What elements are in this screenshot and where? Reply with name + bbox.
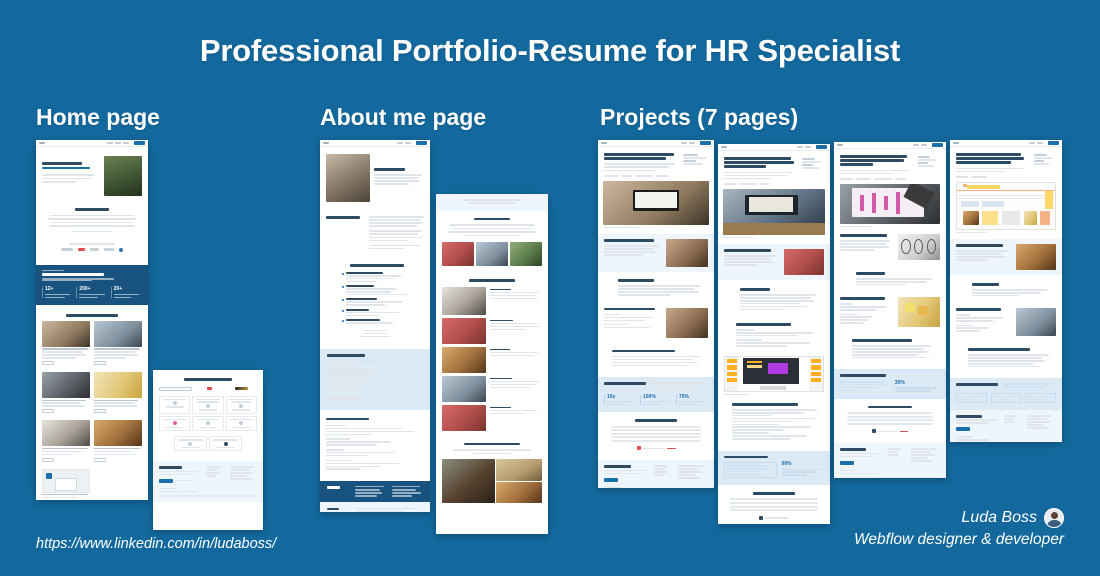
project-card-link[interactable]	[94, 409, 106, 413]
results-heading	[604, 382, 646, 385]
project-section-2	[598, 272, 714, 300]
volunteer-photo	[442, 242, 474, 266]
project-section-1	[950, 239, 1062, 275]
mockup-project-3[interactable]: 30%	[834, 142, 946, 478]
slide-canvas: Professional Portfolio-Resume for HR Spe…	[0, 0, 1100, 576]
project-section-3	[834, 289, 946, 331]
mockup-navbar	[718, 144, 830, 151]
project-section-4	[950, 340, 1062, 371]
metric-value: 100%	[643, 395, 672, 400]
project-card[interactable]	[42, 321, 90, 365]
reference-avatar	[239, 421, 243, 425]
recommendations-section	[598, 412, 714, 454]
bio-section	[320, 206, 430, 253]
mockup-about-second[interactable]	[436, 194, 548, 534]
welcome-title	[75, 208, 109, 211]
hero-portrait-photo	[104, 156, 142, 196]
reference-card[interactable]	[226, 416, 257, 431]
section-photo	[1016, 308, 1056, 336]
hero-text-line	[42, 181, 76, 183]
project-section-1	[718, 244, 830, 280]
site-logo-icon	[323, 142, 329, 144]
project-title-line	[724, 157, 791, 160]
experience-title	[350, 264, 405, 267]
section-heading	[736, 323, 791, 326]
volunteering-section	[436, 211, 548, 271]
project-title-line	[840, 155, 907, 158]
contact-title	[956, 415, 982, 418]
section-heading	[618, 279, 654, 282]
client-logo-icon	[61, 248, 73, 251]
tools-section	[320, 502, 430, 512]
timeline-dot-icon	[342, 286, 344, 288]
recommendations-title	[868, 406, 912, 409]
section-heading	[604, 308, 655, 311]
projects-section	[36, 305, 148, 500]
nav-cta-button	[816, 145, 827, 149]
reference-avatar	[188, 442, 192, 446]
project-results	[950, 378, 1062, 410]
reference-avatar	[224, 442, 228, 446]
source-logo-icon	[759, 516, 763, 520]
fact-photo	[442, 376, 486, 402]
project-card-row	[42, 372, 142, 413]
project-hero-photo	[603, 181, 709, 225]
metric-item: 90%	[782, 462, 824, 478]
author-role: Webflow designer & developer	[854, 531, 1064, 549]
education-title	[327, 354, 365, 357]
reference-card[interactable]	[174, 436, 207, 451]
welcome-section	[36, 200, 148, 236]
recommendations-title	[635, 419, 677, 422]
project-title-line	[604, 157, 666, 160]
project-results: 10x 100% 75%	[598, 377, 714, 412]
recommendations-title	[753, 492, 795, 495]
project-card-link[interactable]	[42, 409, 54, 413]
fact-row	[442, 376, 542, 402]
reference-card[interactable]	[226, 396, 257, 414]
nav-item	[397, 142, 403, 144]
portfolio-url[interactable]: https://www.linkedin.com/in/ludaboss/	[36, 536, 276, 552]
nav-item	[405, 142, 411, 144]
plan-screenshot	[956, 182, 1056, 230]
reference-filter[interactable]	[159, 387, 192, 391]
welcome-text-line	[48, 218, 136, 220]
project-title-line	[956, 157, 1024, 160]
fact-row	[442, 405, 542, 431]
nav-cta-button	[416, 141, 427, 145]
certification-title	[326, 418, 369, 421]
section-heading	[840, 297, 885, 300]
contact-title	[604, 465, 631, 468]
site-logo-icon	[721, 146, 727, 148]
reference-avatar	[206, 404, 210, 408]
section-label-about: About me page	[320, 104, 486, 131]
client-logo-icon	[119, 248, 123, 252]
volunteering-photos	[442, 242, 542, 266]
mockup-project-2[interactable]: 90%	[718, 144, 830, 524]
section-heading	[956, 244, 1003, 247]
outside-title	[464, 443, 520, 446]
client-logo-icon	[90, 248, 99, 251]
metric-value: 10x	[607, 395, 636, 400]
stats-kicker	[42, 270, 64, 271]
user-avatar-icon	[1044, 508, 1064, 528]
project-card[interactable]	[42, 372, 90, 413]
project-card-link[interactable]	[94, 361, 106, 365]
bio-title	[326, 216, 360, 219]
fact-row	[442, 287, 542, 315]
project-header	[718, 151, 830, 183]
mockup-home-main[interactable]: 12+ 200+ 20+	[36, 140, 148, 500]
tools-title	[327, 508, 339, 511]
whiteboard-screenshot	[724, 356, 824, 392]
contact-title	[159, 466, 182, 469]
section-heading	[604, 239, 654, 242]
skills-title	[327, 486, 340, 489]
section-label-home: Home page	[36, 104, 160, 131]
logo-row	[42, 248, 142, 252]
collage-photo	[496, 459, 542, 480]
contact-section	[598, 460, 714, 488]
outside-collage	[442, 459, 542, 503]
contact-section	[834, 443, 946, 478]
project-header	[598, 147, 714, 175]
reference-avatar	[239, 404, 243, 408]
welcome-text-line	[50, 215, 134, 217]
nav-item	[689, 142, 695, 144]
references-grid-secondary	[174, 436, 243, 451]
references-title	[184, 378, 231, 381]
client-logo-icon	[104, 248, 114, 251]
mockup-project-4[interactable]	[950, 140, 1062, 442]
outside-work-section	[436, 435, 548, 508]
facts-section	[436, 270, 548, 435]
nav-cta-button	[700, 141, 711, 145]
nav-item	[913, 144, 919, 146]
timeline-dot-icon	[342, 320, 344, 322]
nav-cta-button	[134, 141, 145, 145]
experience-item	[342, 285, 424, 295]
results-cards	[956, 393, 1056, 403]
metrics-row: 10x 100% 75%	[604, 395, 708, 406]
metric-item: 10x	[604, 395, 636, 406]
skills-section	[320, 481, 430, 502]
results-heading	[724, 456, 768, 459]
welcome-text-line	[52, 222, 132, 224]
project-title-line	[724, 161, 794, 164]
site-logo-icon	[837, 144, 843, 146]
contact-section	[950, 410, 1062, 442]
reference-card[interactable]	[209, 436, 242, 451]
volunteering-title	[474, 218, 510, 221]
stats-subtext	[42, 280, 92, 282]
project-card[interactable]	[42, 420, 90, 461]
reference-logo-icon	[235, 387, 248, 390]
collage-photo	[496, 482, 542, 503]
facts-title	[469, 279, 515, 282]
section-heading	[740, 288, 770, 291]
stats-row: 12+ 200+ 20+	[42, 287, 142, 298]
references-section	[153, 370, 263, 455]
contact-send-button[interactable]	[840, 461, 854, 465]
contact-section	[153, 461, 263, 501]
project-section-2	[950, 275, 1062, 300]
education-section	[320, 349, 430, 410]
experience-section	[320, 253, 430, 341]
recommendations-section	[834, 399, 946, 438]
contact-title	[840, 448, 866, 451]
nav-item	[921, 144, 927, 146]
section-heading	[732, 403, 798, 406]
section-heading	[968, 348, 1030, 351]
reference-card[interactable]	[192, 416, 223, 431]
fact-row	[442, 318, 542, 344]
project-card[interactable]	[94, 321, 142, 365]
project-title-line	[604, 153, 674, 156]
experience-item	[342, 319, 424, 324]
nav-item	[797, 146, 803, 148]
project-section-3	[950, 300, 1062, 340]
project-title-line	[840, 159, 904, 162]
project-thumbnail	[94, 321, 142, 347]
section-heading	[840, 234, 887, 237]
stat-value: 20+	[114, 287, 142, 292]
about-second-intro	[436, 194, 548, 211]
section-photo	[898, 297, 940, 327]
fact-photo	[442, 347, 486, 373]
results-heading	[956, 383, 998, 386]
mockup-navbar	[834, 142, 946, 149]
about-heading	[374, 168, 405, 171]
experience-item	[342, 272, 424, 282]
project-section-4	[834, 331, 946, 362]
hero-section	[36, 147, 148, 200]
mockup-project-1[interactable]: 10x 100% 75%	[598, 140, 714, 488]
client-logos-section	[36, 236, 148, 256]
hero-heading-line	[42, 162, 82, 165]
site-logo-icon	[953, 142, 959, 144]
project-thumbnail	[94, 372, 142, 398]
project-header	[834, 149, 946, 178]
project-section-1	[598, 234, 714, 272]
recommendations-section	[718, 485, 830, 524]
reference-card[interactable]	[159, 396, 190, 414]
section-photo	[1016, 244, 1056, 270]
contact-send-button[interactable]	[159, 479, 173, 483]
project-title-line	[840, 163, 873, 166]
project-card[interactable]	[94, 420, 142, 461]
project-hero-photo	[840, 184, 940, 224]
section-chart-image	[898, 234, 940, 260]
nav-item	[107, 142, 113, 144]
project-thumbnail	[42, 321, 90, 347]
experience-item	[342, 309, 424, 316]
client-logo-icon	[78, 248, 85, 251]
mockup-about-main[interactable]	[320, 140, 430, 512]
about-portrait-photo	[326, 154, 370, 202]
reference-avatar	[173, 401, 177, 405]
reference-avatar	[206, 421, 210, 425]
references-grid	[159, 396, 257, 431]
section-heading	[856, 272, 885, 275]
reference-avatar	[173, 421, 177, 425]
page-title: Professional Portfolio-Resume for HR Spe…	[0, 33, 1100, 69]
project-thumbnail	[42, 372, 90, 398]
welcome-text-line	[49, 225, 135, 227]
hero-text-line	[42, 174, 94, 176]
project-card[interactable]	[42, 469, 90, 500]
section-heading	[956, 308, 1001, 311]
project-title-line	[724, 165, 766, 168]
hero-text-line	[42, 178, 91, 180]
nav-cta-button	[932, 143, 943, 147]
stat-item: 200+	[76, 287, 107, 298]
metric-item: 75%	[676, 395, 708, 406]
logos-caption	[69, 243, 115, 245]
metric-value: 90%	[782, 462, 824, 467]
project-card-row	[42, 469, 142, 500]
section-heading	[724, 249, 771, 252]
welcome-text-line	[72, 231, 112, 233]
metric-item: 100%	[640, 395, 672, 406]
timeline-dot-icon	[342, 299, 344, 301]
nav-item	[1037, 142, 1043, 144]
stats-band: 12+ 200+ 20+	[36, 265, 148, 306]
mockup-navbar	[320, 140, 430, 147]
timeline-dot-icon	[342, 273, 344, 275]
collage-photo	[442, 459, 495, 503]
section-photo	[666, 239, 708, 267]
author-name: Luda Boss	[961, 509, 1037, 527]
section-heading	[612, 350, 675, 353]
section-label-projects: Projects (7 pages)	[600, 104, 798, 131]
source-logo-icon	[872, 429, 876, 433]
timeline-dot-icon	[342, 310, 344, 312]
nav-cta-button	[1048, 141, 1059, 145]
contact-send-button[interactable]	[956, 427, 970, 431]
fact-photo	[442, 318, 486, 344]
project-card-link[interactable]	[42, 458, 54, 462]
fact-photo	[442, 287, 486, 315]
contact-send-button[interactable]	[604, 478, 618, 482]
nav-item	[681, 142, 687, 144]
reference-logo-icon	[207, 387, 212, 390]
project-thumbnail	[42, 469, 90, 493]
fact-row	[442, 347, 542, 373]
project-results: 90%	[718, 451, 830, 486]
project-card-row	[42, 420, 142, 461]
project-thumbnail	[94, 420, 142, 446]
project-section-1	[834, 227, 946, 264]
mockup-home-references[interactable]	[153, 370, 263, 530]
project-title-line	[956, 153, 1021, 156]
nav-item	[805, 146, 811, 148]
volunteer-photo	[510, 242, 542, 266]
about-hero	[320, 147, 430, 206]
site-logo-icon	[601, 142, 607, 144]
nav-item	[1029, 142, 1035, 144]
metric-item: 30%	[895, 381, 940, 392]
project-card-link[interactable]	[42, 361, 54, 365]
experience-item	[342, 298, 424, 305]
metric-value: 30%	[895, 381, 940, 386]
author-credit: Luda Boss Webflow designer & developer	[854, 508, 1064, 549]
nav-item	[115, 142, 121, 144]
projects-title	[66, 314, 118, 317]
fact-photo	[442, 405, 486, 431]
site-logo-icon	[39, 142, 45, 144]
project-section-3	[718, 314, 830, 350]
certification-section	[320, 410, 430, 474]
reference-card[interactable]	[192, 396, 223, 414]
stat-item: 12+	[42, 287, 73, 298]
results-heading	[840, 374, 886, 377]
volunteer-photo	[476, 242, 508, 266]
nav-item	[123, 142, 129, 144]
mockup-navbar	[950, 140, 1062, 147]
hero-heading-line	[42, 167, 90, 170]
project-title-line	[956, 161, 1011, 164]
project-card-row	[42, 321, 142, 365]
project-section-4	[598, 342, 714, 371]
stat-item: 20+	[111, 287, 142, 298]
section-photo	[666, 308, 708, 338]
source-logo-icon	[637, 446, 641, 450]
mockup-navbar	[36, 140, 148, 147]
project-card-link[interactable]	[94, 458, 106, 462]
section-heading	[852, 339, 912, 342]
project-section-2	[718, 280, 830, 314]
project-section-4	[718, 395, 830, 443]
stat-value: 12+	[45, 287, 73, 292]
metric-value: 75%	[679, 395, 708, 400]
mockup-navbar	[598, 140, 714, 147]
project-thumbnail	[42, 420, 90, 446]
project-section-2	[834, 264, 946, 289]
project-results: 30%	[834, 369, 946, 398]
project-section-3	[598, 300, 714, 342]
reference-card[interactable]	[159, 416, 190, 431]
project-header	[950, 147, 1062, 176]
project-card[interactable]	[94, 372, 142, 413]
section-heading	[972, 283, 999, 286]
stats-title	[42, 273, 104, 276]
stat-value: 200+	[79, 287, 107, 292]
section-photo	[784, 249, 824, 275]
project-hero-photo	[723, 189, 825, 235]
references-filter-row	[159, 387, 257, 391]
